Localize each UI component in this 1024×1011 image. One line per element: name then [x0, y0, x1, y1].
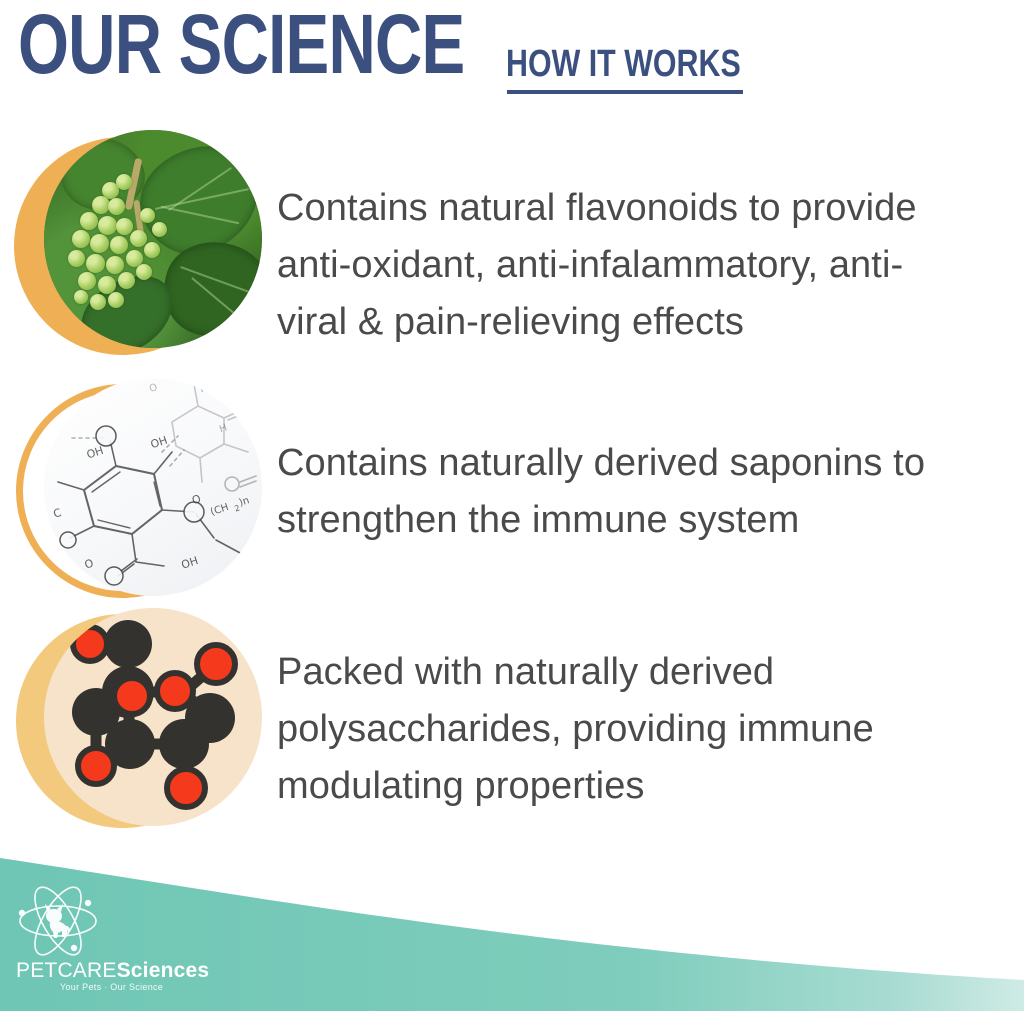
svg-text:OH: OH: [180, 554, 200, 572]
brand-logo: PETCARESciences Your Pets · Our Science: [16, 882, 206, 1002]
grape: [152, 222, 167, 237]
svg-text:O: O: [83, 556, 96, 571]
page-footer: PETCARESciences Your Pets · Our Science: [0, 836, 1024, 1011]
grape: [116, 174, 132, 190]
subtitle-underline: [507, 90, 743, 94]
grape: [108, 198, 125, 215]
page-subtitle: HOW IT WORKS: [506, 44, 741, 84]
grape: [140, 208, 155, 223]
grapes-vine-photo-icon: [44, 130, 262, 348]
grape: [118, 272, 135, 289]
page-subtitle-wrap: HOW IT WORKS: [506, 44, 799, 84]
grape: [68, 250, 85, 267]
grape: [144, 242, 160, 258]
svg-text:H: H: [199, 383, 210, 396]
grape: [80, 212, 98, 230]
grape: [74, 290, 88, 304]
page-title: OUR SCIENCE: [18, 2, 464, 86]
grape: [90, 294, 106, 310]
brand-tagline: Your Pets · Our Science: [60, 982, 163, 992]
grape: [78, 272, 96, 290]
feature-icon-wrap-1: [14, 130, 264, 362]
molecule-svg: [44, 608, 262, 826]
grape: [116, 218, 133, 235]
svg-text:O: O: [148, 382, 159, 395]
brand-name-part2: Sciences: [117, 959, 210, 982]
feature-text-3: Packed with naturally derived polysaccha…: [277, 644, 967, 815]
grape: [136, 264, 152, 280]
svg-text:(CH: (CH: [209, 502, 230, 518]
svg-text:C: C: [52, 506, 64, 521]
grape: [106, 256, 124, 274]
svg-text:H: H: [218, 423, 229, 436]
feature-row-flavonoids: Contains natural flavonoids to provide a…: [0, 130, 1024, 370]
feature-row-polysaccharides: Packed with naturally derived polysaccha…: [0, 608, 1024, 840]
svg-text:OH: OH: [85, 444, 105, 462]
grape: [98, 216, 117, 235]
chemical-structure-diagram-icon: OH OH O OH C O (CH 2 )n H H O: [44, 378, 262, 596]
svg-text:)n: )n: [238, 495, 251, 509]
feature-text-2: Contains naturally derived saponins to s…: [277, 435, 967, 549]
chem-structure-svg: OH OH O OH C O (CH 2 )n H H O: [44, 378, 262, 596]
grape: [86, 254, 105, 273]
grape: [72, 230, 90, 248]
grape: [108, 292, 124, 308]
feature-text-1: Contains natural flavonoids to provide a…: [277, 180, 967, 351]
brand-name-part1: PETCARE: [16, 959, 117, 982]
svg-text:OH: OH: [149, 434, 169, 452]
feature-row-saponins: OH OH O OH C O (CH 2 )n H H O Co: [0, 378, 1024, 602]
brand-name: PETCARESciences: [16, 960, 206, 982]
polysaccharide-molecule-illustration-icon: [44, 608, 262, 826]
feature-icon-wrap-2: OH OH O OH C O (CH 2 )n H H O: [14, 378, 264, 610]
feature-icon-wrap-3: [14, 608, 264, 840]
grape: [110, 236, 128, 254]
atom-pet-logo-icon: [16, 882, 100, 960]
page-header: OUR SCIENCE HOW IT WORKS: [0, 0, 1024, 120]
grape: [90, 234, 109, 253]
